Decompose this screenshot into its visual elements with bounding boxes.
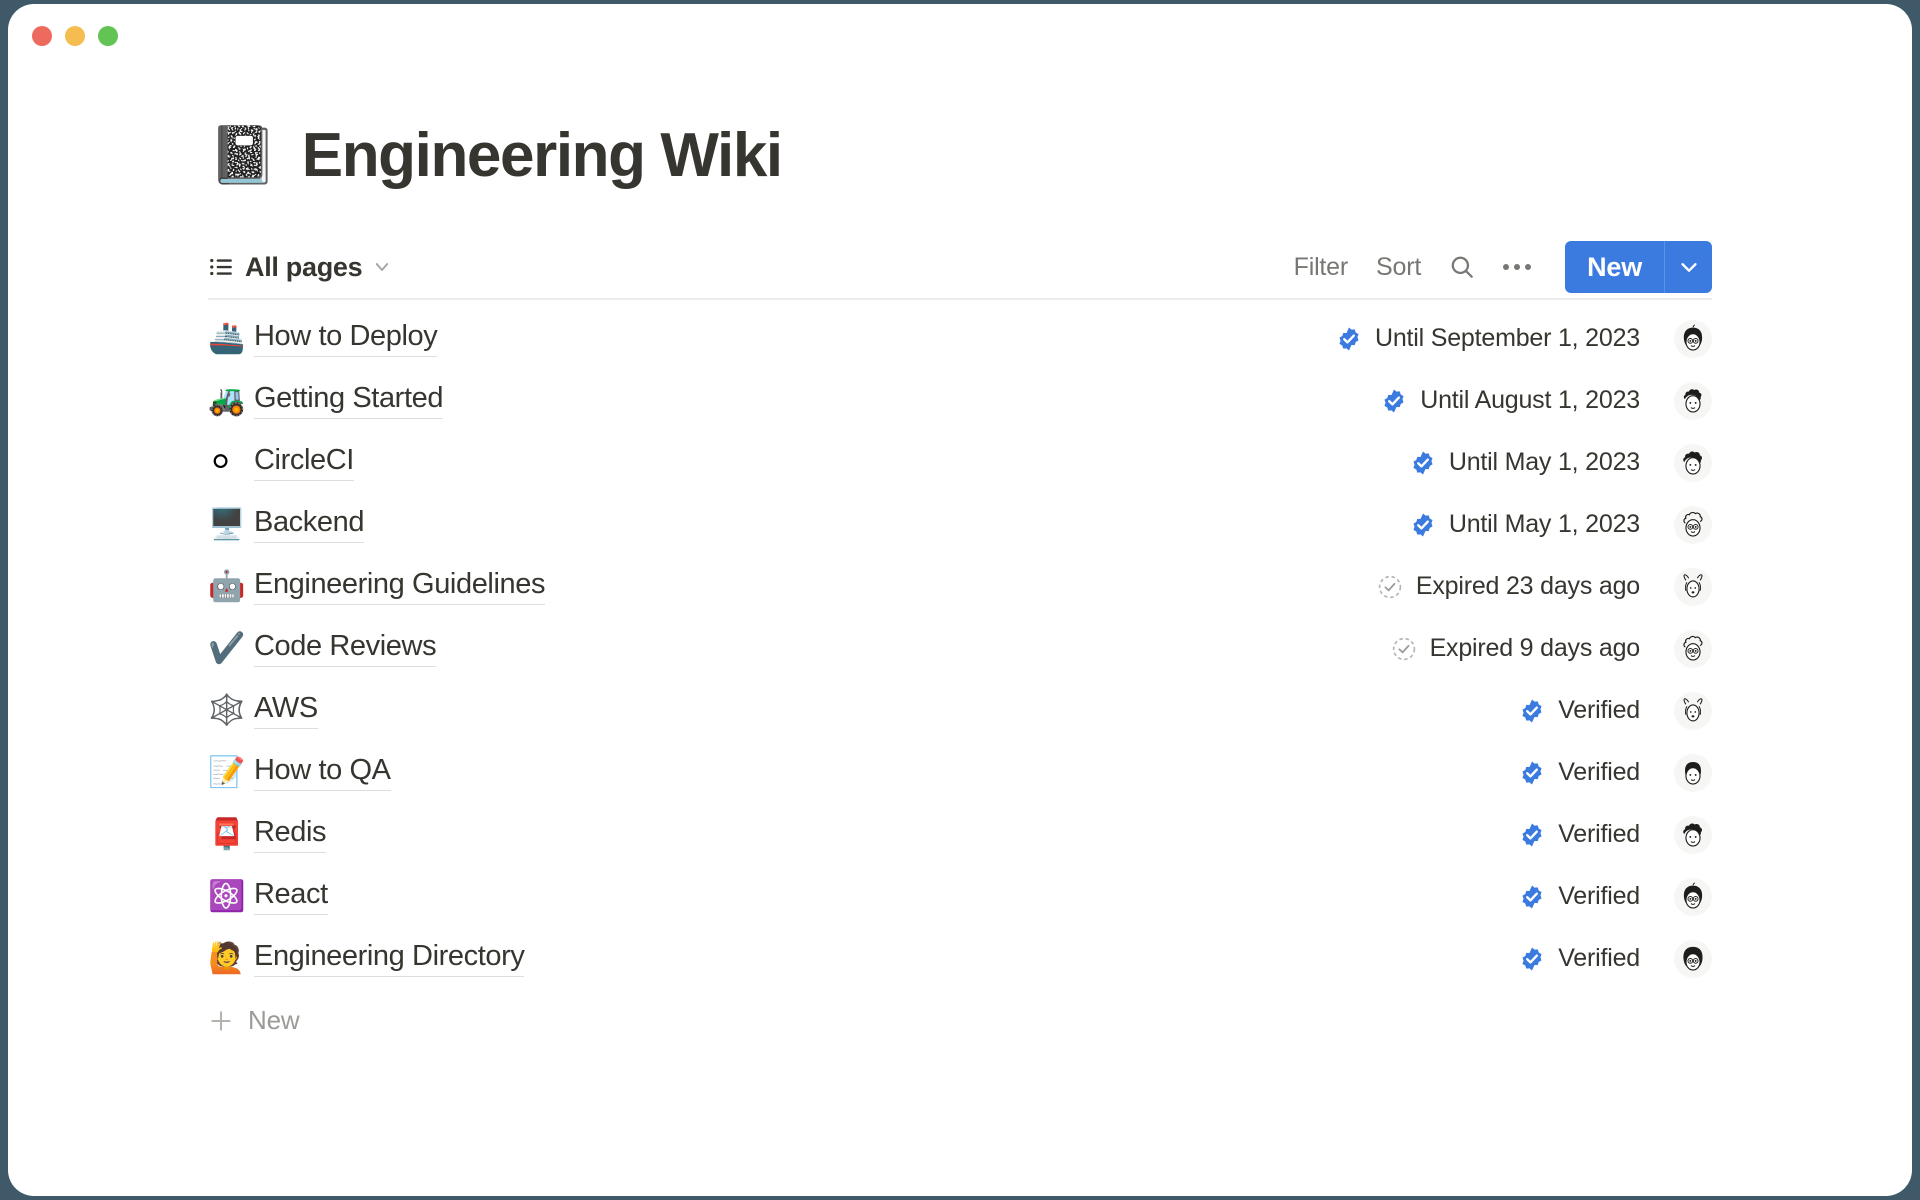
verified-badge-icon xyxy=(1519,822,1545,848)
verification-status[interactable]: Verified xyxy=(1519,944,1640,973)
maximize-button[interactable] xyxy=(98,26,118,46)
verified-badge-icon xyxy=(1410,450,1436,476)
avatar[interactable] xyxy=(1674,506,1712,544)
verification-status[interactable]: Verified xyxy=(1519,696,1640,725)
verified-badge-icon xyxy=(1519,760,1545,786)
status-label: Until May 1, 2023 xyxy=(1449,510,1640,539)
page-link[interactable]: CircleCI xyxy=(254,444,354,481)
chevron-down-icon xyxy=(373,258,391,276)
row-icon-heavy-check-mark[interactable]: ✔️ xyxy=(208,634,254,664)
row-icon-desktop-computer[interactable]: 🖥️ xyxy=(208,510,254,540)
search-icon[interactable] xyxy=(1435,248,1489,286)
table-row[interactable]: 🕸️AWSVerified xyxy=(208,680,1712,742)
avatar[interactable] xyxy=(1674,444,1712,482)
verification-status[interactable]: Verified xyxy=(1519,820,1640,849)
page-link[interactable]: AWS xyxy=(254,692,318,729)
status-label: Until August 1, 2023 xyxy=(1420,386,1640,415)
page-link[interactable]: How to QA xyxy=(254,754,391,791)
status-label: Verified xyxy=(1558,758,1640,787)
row-icon-robot[interactable]: 🤖 xyxy=(208,572,254,602)
ellipsis-dots xyxy=(1503,264,1531,270)
app-window: 📓 Engineering Wiki All pages xyxy=(8,4,1912,1196)
new-button-group: New xyxy=(1565,241,1712,293)
table-row[interactable]: 🚢How to DeployUntil September 1, 2023 xyxy=(208,308,1712,370)
database-toolbar: All pages Filter Sort xyxy=(208,236,1712,298)
verification-status[interactable]: Until September 1, 2023 xyxy=(1336,324,1640,353)
verification-status[interactable]: Expired 9 days ago xyxy=(1391,634,1640,663)
status-label: Verified xyxy=(1558,944,1640,973)
avatar[interactable] xyxy=(1674,940,1712,978)
table-row[interactable]: 🚜Getting StartedUntil August 1, 2023 xyxy=(208,370,1712,432)
table-row[interactable]: ✔️Code ReviewsExpired 9 days ago xyxy=(208,618,1712,680)
page-link[interactable]: Backend xyxy=(254,506,364,543)
table-row[interactable]: ⚛️ReactVerified xyxy=(208,866,1712,928)
verified-badge-icon xyxy=(1519,946,1545,972)
sort-button[interactable]: Sort xyxy=(1362,247,1435,288)
page-link[interactable]: Code Reviews xyxy=(254,630,436,667)
row-icon-atom-symbol[interactable]: ⚛️ xyxy=(208,882,254,912)
avatar[interactable] xyxy=(1674,320,1712,358)
avatar[interactable] xyxy=(1674,568,1712,606)
verification-status[interactable]: Until May 1, 2023 xyxy=(1410,510,1640,539)
ellipsis-icon[interactable] xyxy=(1489,258,1545,276)
page-content: 📓 Engineering Wiki All pages xyxy=(8,122,1912,1050)
page-icon-notebook[interactable]: 📓 xyxy=(208,128,278,184)
view-selector-all-pages[interactable]: All pages xyxy=(208,252,391,283)
page-list: 🚢How to DeployUntil September 1, 2023🚜Ge… xyxy=(208,300,1712,990)
row-icon-tractor[interactable]: 🚜 xyxy=(208,386,254,416)
row-icon-white-circle[interactable]: ⚪ xyxy=(208,448,254,478)
verification-status[interactable]: Until August 1, 2023 xyxy=(1381,386,1640,415)
list-icon xyxy=(208,254,234,280)
verification-status[interactable]: Verified xyxy=(1519,758,1640,787)
page-link[interactable]: Getting Started xyxy=(254,382,443,419)
add-new-page-label: New xyxy=(248,1005,299,1036)
minimize-button[interactable] xyxy=(65,26,85,46)
page-link[interactable]: Engineering Directory xyxy=(254,940,524,977)
new-button-dropdown[interactable] xyxy=(1664,241,1712,293)
table-row[interactable]: 🙋Engineering DirectoryVerified xyxy=(208,928,1712,990)
verification-status[interactable]: Until May 1, 2023 xyxy=(1410,448,1640,477)
avatar[interactable] xyxy=(1674,816,1712,854)
verification-status[interactable]: Verified xyxy=(1519,882,1640,911)
row-icon-ship[interactable]: 🚢 xyxy=(208,324,254,354)
status-label: Verified xyxy=(1558,882,1640,911)
avatar[interactable] xyxy=(1674,754,1712,792)
new-button[interactable]: New xyxy=(1565,241,1664,293)
status-label: Until May 1, 2023 xyxy=(1449,448,1640,477)
add-new-page-row[interactable]: New xyxy=(208,992,1712,1050)
status-label: Verified xyxy=(1558,820,1640,849)
expired-badge-icon xyxy=(1377,574,1403,600)
table-row[interactable]: 📮RedisVerified xyxy=(208,804,1712,866)
row-icon-spider-web[interactable]: 🕸️ xyxy=(208,696,254,726)
table-row[interactable]: 📝How to QAVerified xyxy=(208,742,1712,804)
verification-status[interactable]: Expired 23 days ago xyxy=(1377,572,1640,601)
row-icon-person-raising-hand[interactable]: 🙋 xyxy=(208,944,254,974)
status-label: Verified xyxy=(1558,696,1640,725)
table-row[interactable]: 🖥️BackendUntil May 1, 2023 xyxy=(208,494,1712,556)
status-label: Expired 9 days ago xyxy=(1430,634,1640,663)
window-titlebar xyxy=(8,4,1912,68)
row-icon-postbox[interactable]: 📮 xyxy=(208,820,254,850)
toolbar-actions: Filter Sort New xyxy=(1280,241,1712,293)
page-link[interactable]: React xyxy=(254,878,328,915)
verified-badge-icon xyxy=(1381,388,1407,414)
avatar[interactable] xyxy=(1674,382,1712,420)
avatar[interactable] xyxy=(1674,692,1712,730)
verified-badge-icon xyxy=(1519,884,1545,910)
row-icon-memo[interactable]: 📝 xyxy=(208,758,254,788)
view-name-label: All pages xyxy=(245,252,362,283)
status-label: Until September 1, 2023 xyxy=(1375,324,1640,353)
page-link[interactable]: Engineering Guidelines xyxy=(254,568,545,605)
status-label: Expired 23 days ago xyxy=(1416,572,1640,601)
avatar[interactable] xyxy=(1674,630,1712,668)
verified-badge-icon xyxy=(1336,326,1362,352)
expired-badge-icon xyxy=(1391,636,1417,662)
close-button[interactable] xyxy=(32,26,52,46)
page-title: Engineering Wiki xyxy=(302,122,782,190)
page-link[interactable]: Redis xyxy=(254,816,326,853)
table-row[interactable]: 🤖Engineering GuidelinesExpired 23 days a… xyxy=(208,556,1712,618)
page-link[interactable]: How to Deploy xyxy=(254,320,437,357)
table-row[interactable]: ⚪CircleCIUntil May 1, 2023 xyxy=(208,432,1712,494)
verified-badge-icon xyxy=(1410,512,1436,538)
avatar[interactable] xyxy=(1674,878,1712,916)
page-header: 📓 Engineering Wiki xyxy=(208,122,1712,190)
filter-button[interactable]: Filter xyxy=(1280,247,1362,288)
plus-icon xyxy=(208,1008,234,1034)
verified-badge-icon xyxy=(1519,698,1545,724)
